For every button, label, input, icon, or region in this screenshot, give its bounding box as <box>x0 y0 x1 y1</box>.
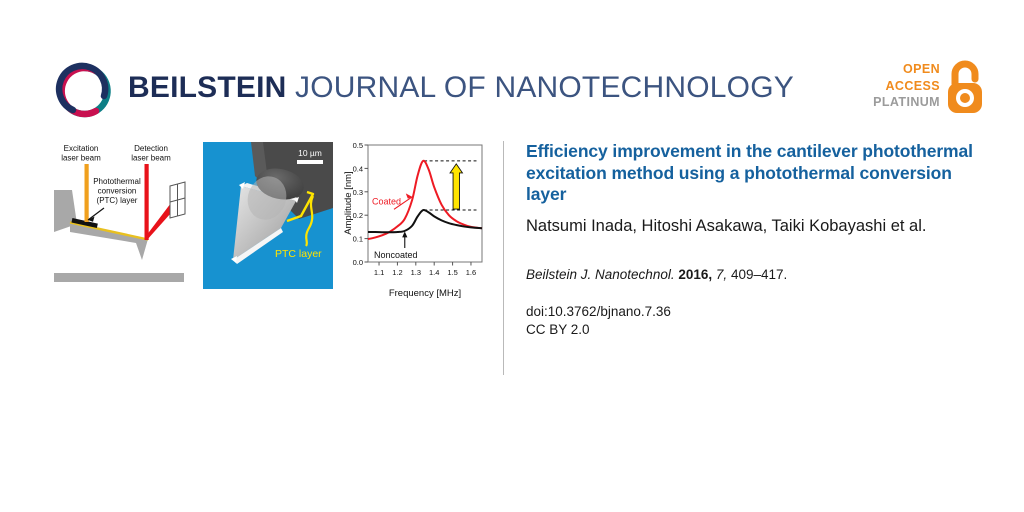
chart-y-tick: 0.3 <box>353 188 363 197</box>
open-access-line-platinum: PLATINUM <box>873 94 940 111</box>
chart-x-tick: 1.1 <box>374 268 384 277</box>
open-access-label: OPEN ACCESS PLATINUM <box>873 61 940 111</box>
citation-pages: 409–417. <box>731 267 787 282</box>
figure-panel-sem: 10 µm PTC layer <box>203 142 333 289</box>
open-access-badge: OPEN ACCESS PLATINUM <box>880 58 986 124</box>
label-detection-line2: laser beam <box>131 154 171 163</box>
label-ptc-line3: (PTC) layer <box>97 196 138 205</box>
wordmark-bold: BEILSTEIN <box>128 71 286 104</box>
chart-y-tick: 0.5 <box>353 141 363 150</box>
chart-x-tick: 1.2 <box>392 268 402 277</box>
vertical-divider <box>503 141 504 375</box>
label-excitation-line2: laser beam <box>61 154 101 163</box>
label-detection-line1: Detection <box>134 144 168 153</box>
wordmark-light: JOURNAL OF NANOTECHNOLOGY <box>286 71 793 104</box>
figure-panel-chart: 0.00.10.20.30.40.51.11.21.31.41.51.6Coat… <box>342 136 490 301</box>
chart-annotation-noncoated: Noncoated <box>374 250 418 260</box>
sem-annotation-ptc: PTC layer <box>275 248 322 260</box>
chart-y-tick: 0.0 <box>353 258 363 267</box>
label-excitation-line1: Excitation <box>64 144 99 153</box>
article-authors: Natsumi Inada, Hitoshi Asakawa, Taiki Ko… <box>526 215 986 237</box>
open-lock-icon <box>944 60 986 116</box>
chart-y-tick: 0.4 <box>353 164 363 173</box>
article-doi-value[interactable]: doi:10.3762/bjnano.7.36 <box>526 303 986 322</box>
journal-wordmark: BEILSTEIN JOURNAL OF NANOTECHNOLOGY <box>128 71 794 105</box>
beilstein-logo-icon <box>52 58 118 124</box>
chart-annotation-coated: Coated <box>372 197 401 207</box>
label-ptc-line2: conversion <box>98 187 137 196</box>
article-title[interactable]: Efficiency improvement in the cantilever… <box>526 141 986 206</box>
figure-strip: Excitation laser beam Detection laser be… <box>0 132 503 312</box>
chart-y-tick: 0.2 <box>353 211 363 220</box>
chart-x-tick: 1.4 <box>429 268 439 277</box>
chart-y-axis-label: Amplitude [nm] <box>343 171 354 234</box>
masthead: BEILSTEIN JOURNAL OF NANOTECHNOLOGY OPEN… <box>0 0 1024 132</box>
citation-journal: Beilstein J. Nanotechnol. <box>526 267 675 282</box>
sem-scale-label: 10 µm <box>298 148 322 158</box>
article-doi-license: doi:10.3762/bjnano.7.36 CC BY 2.0 <box>526 303 986 340</box>
open-access-line-access: ACCESS <box>873 78 940 95</box>
label-ptc-line1: Photothermal <box>93 177 141 186</box>
article-citation: Beilstein J. Nanotechnol. 2016, 7, 409–4… <box>526 266 986 284</box>
chart-x-tick: 1.3 <box>411 268 421 277</box>
chart-y-tick: 0.1 <box>353 235 363 244</box>
chart-x-tick: 1.5 <box>447 268 457 277</box>
chart-x-axis-label: Frequency [MHz] <box>389 288 461 299</box>
article-license: CC BY 2.0 <box>526 321 986 340</box>
article-metadata: Efficiency improvement in the cantilever… <box>526 141 986 340</box>
figure-panel-schematic: Excitation laser beam Detection laser be… <box>44 142 192 290</box>
open-access-line-open: OPEN <box>873 61 940 78</box>
citation-year: 2016, <box>678 267 712 282</box>
citation-volume: 7, <box>716 267 727 282</box>
chart-x-tick: 1.6 <box>466 268 476 277</box>
